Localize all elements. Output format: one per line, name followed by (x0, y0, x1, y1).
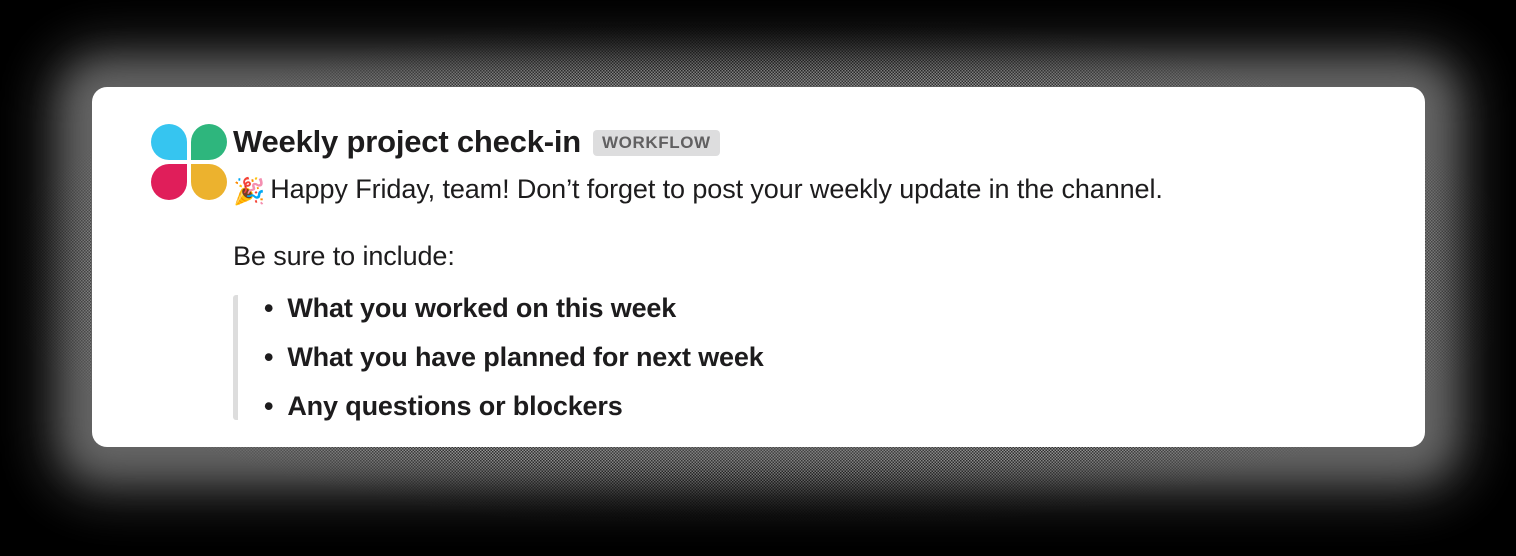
message-body: Weekly project check-in WORKFLOW 🎉Happy … (227, 121, 1395, 420)
list-item: • What you have planned for next week (264, 344, 1395, 371)
list-item: • Any questions or blockers (264, 393, 1395, 420)
logo-blob-top-right (191, 124, 227, 160)
slack-message-card: Weekly project check-in WORKFLOW 🎉Happy … (92, 87, 1425, 447)
message-instruction: Be sure to include: (233, 238, 1395, 276)
logo-blob-bottom-left (151, 164, 187, 200)
list-item-label: Any questions or blockers (287, 393, 622, 420)
bullet-icon: • (264, 295, 273, 322)
message-row: Weekly project check-in WORKFLOW 🎉Happy … (122, 121, 1395, 420)
list-item: • What you worked on this week (264, 295, 1395, 322)
message-greeting-line: 🎉Happy Friday, team! Don’t forget to pos… (233, 170, 1395, 211)
party-popper-icon: 🎉 (233, 176, 265, 206)
bullet-icon: • (264, 344, 273, 371)
message-header: Weekly project check-in WORKFLOW (233, 119, 1395, 163)
logo-blob-bottom-right (191, 164, 227, 200)
screenshot-backdrop: Weekly project check-in WORKFLOW 🎉Happy … (0, 0, 1516, 556)
message-greeting-text: Happy Friday, team! Don’t forget to post… (270, 174, 1163, 204)
sender-name[interactable]: Weekly project check-in (233, 126, 581, 157)
logo-blob-top-left (151, 124, 187, 160)
bullet-quote-block: • What you worked on this week • What yo… (233, 295, 1395, 420)
list-item-label: What you worked on this week (287, 295, 676, 322)
bullet-icon: • (264, 393, 273, 420)
workflow-badge: WORKFLOW (593, 130, 720, 156)
list-item-label: What you have planned for next week (287, 344, 763, 371)
avatar (151, 124, 227, 200)
